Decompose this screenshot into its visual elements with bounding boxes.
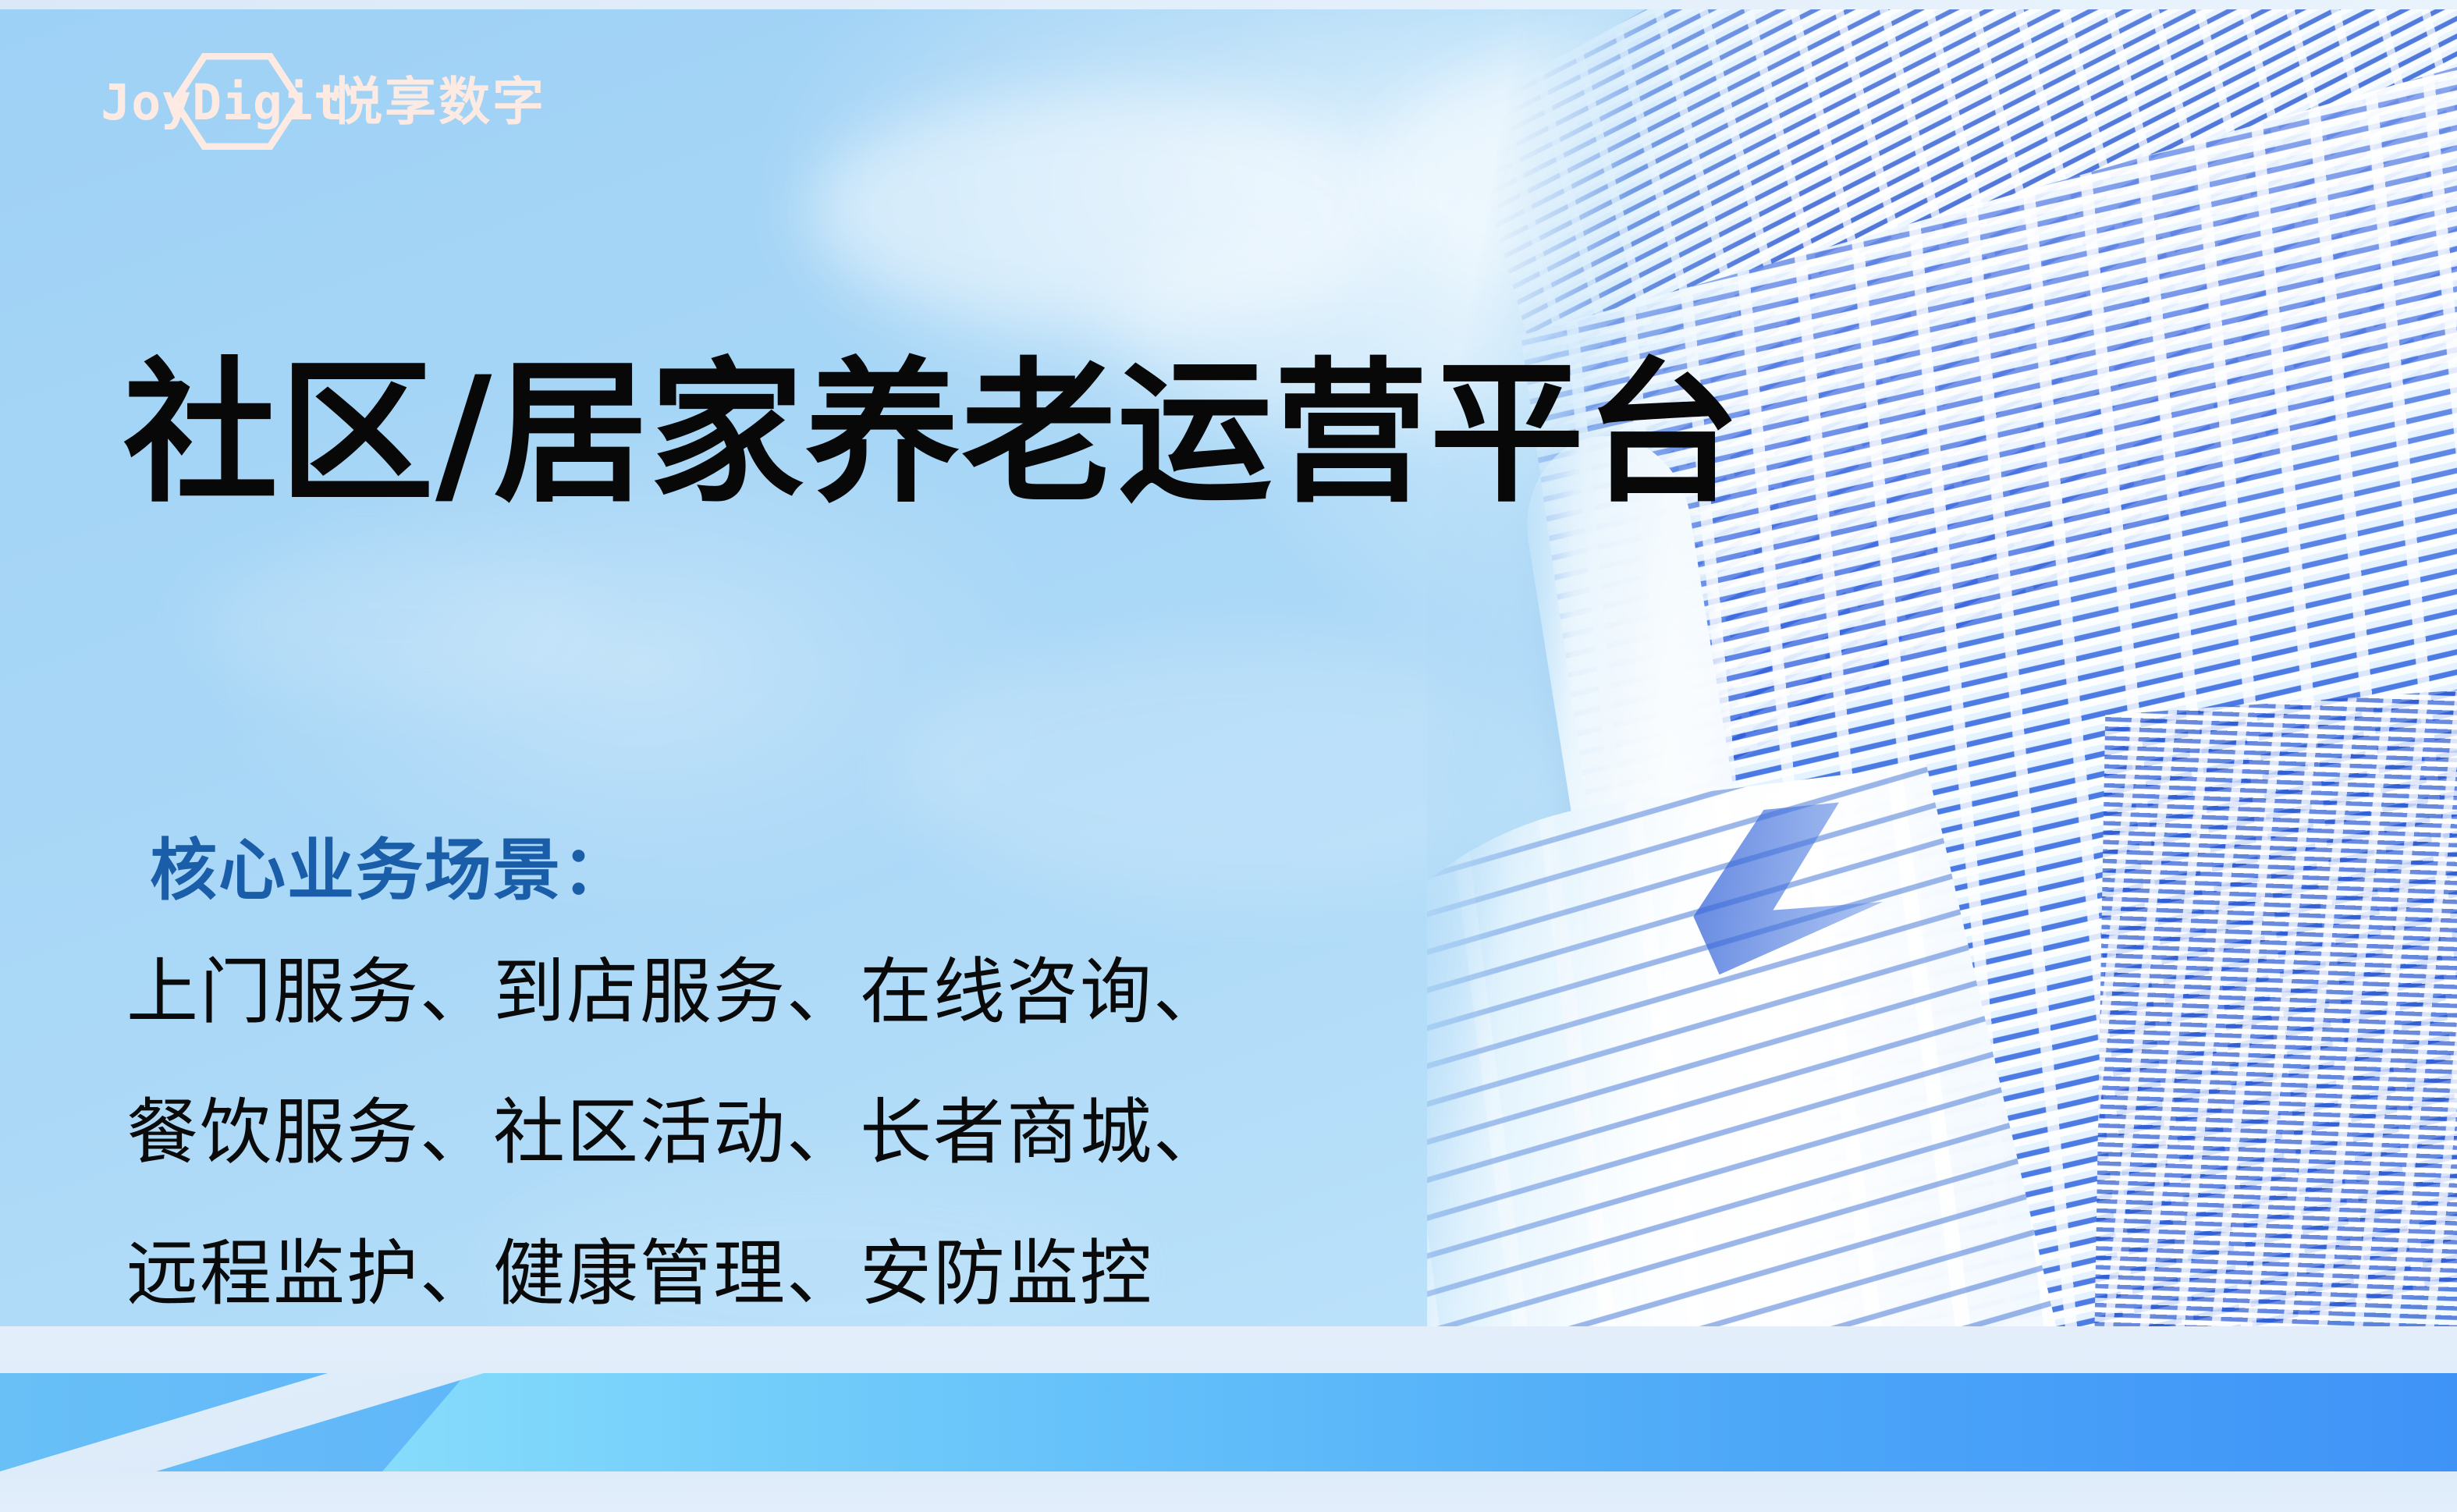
core-scenarios-list: 上门服务、到店服务、在线咨询、 餐饮服务、社区活动、长者商城、 远程监护、健康管… <box>126 922 1609 1344</box>
brand-logo: JoyDigit 悦享数字 <box>134 59 546 145</box>
footer-cyan-parallelogram <box>382 1373 2457 1471</box>
scenario-line: 远程监护、健康管理、安防监控 <box>126 1204 1609 1344</box>
slide-canvas: JoyDigit 悦享数字 社区/居家养老运营平台 核心业务场景： 上门服务、到… <box>0 0 2457 1512</box>
scenario-line: 上门服务、到店服务、在线咨询、 <box>126 922 1609 1063</box>
logo-chinese-name: 悦享数字 <box>331 76 546 128</box>
top-edge-strip <box>0 0 2457 9</box>
logo-mark: JoyDigit <box>134 59 311 145</box>
scenario-line: 餐饮服务、社区活动、长者商城、 <box>126 1063 1609 1203</box>
core-scenarios-heading: 核心业务场景： <box>150 832 630 910</box>
logo-wordmark: JoyDigit <box>101 78 343 127</box>
page-title: 社区/居家养老运营平台 <box>123 352 1742 516</box>
footer-bottom-strip <box>0 1471 2457 1512</box>
footer-decorative-band <box>0 1326 2457 1512</box>
